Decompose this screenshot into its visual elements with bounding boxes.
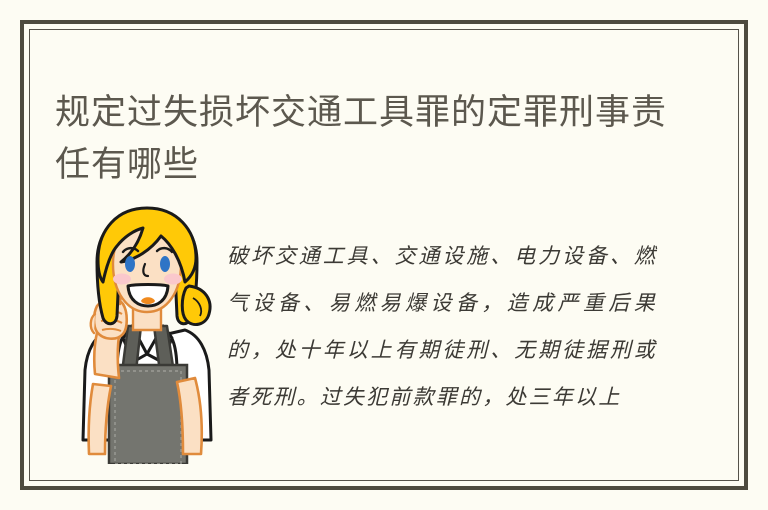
page-title: 规定过失损坏交通工具罪的定罪刑事责任有哪些 xyxy=(55,87,675,191)
left-arm xyxy=(89,384,111,454)
article-body: 破坏交通工具、交通设施、电力设备、燃气设备、易燃易爆设备，造成严重后果的，处十年… xyxy=(227,233,657,421)
article-card: 规定过失损坏交通工具罪的定罪刑事责任有哪些 xyxy=(0,0,768,510)
article-content: 破坏交通工具、交通设施、电力设备、燃气设备、易燃易爆设备，造成严重后果的，处十年… xyxy=(55,200,713,470)
cartoon-woman-pointing-up-illustration xyxy=(73,202,221,464)
